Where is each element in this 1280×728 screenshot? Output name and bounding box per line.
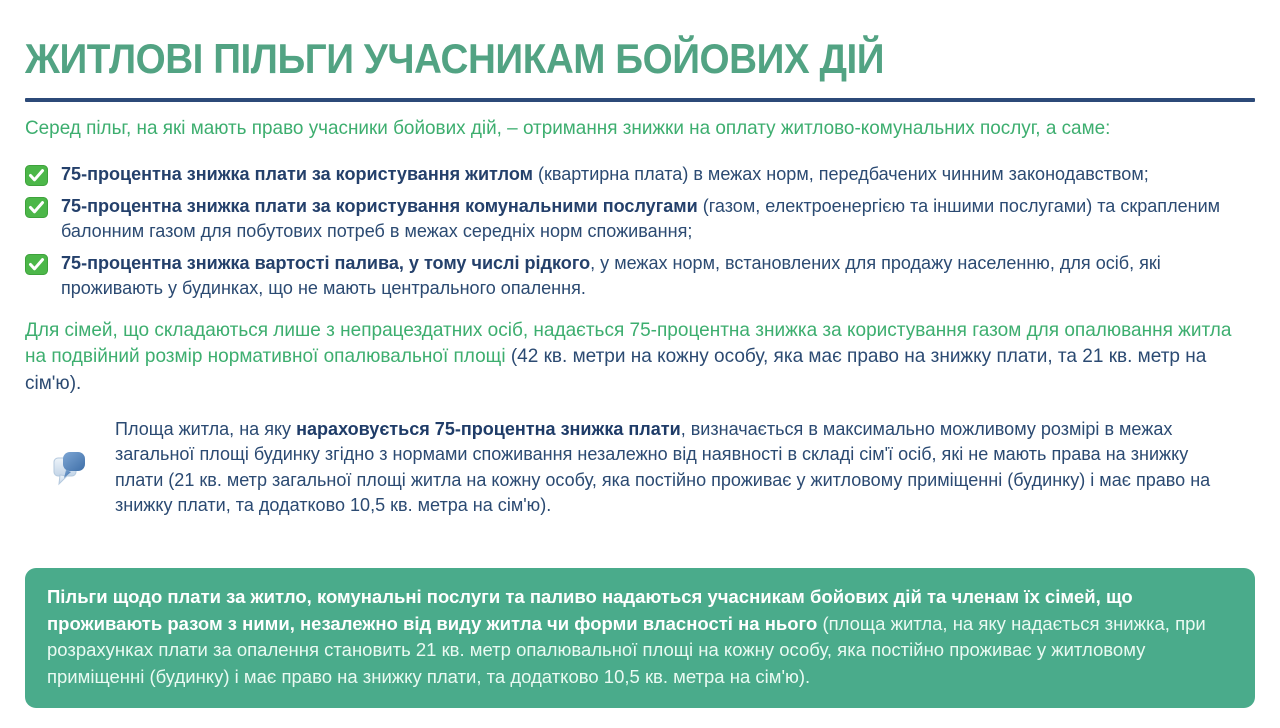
note-highlight: нараховується 75-процентна знижка плати [296, 418, 681, 439]
green-check-icon [25, 254, 48, 275]
note-lead: Площа житла, на яку [115, 418, 296, 439]
page-title: ЖИТЛОВІ ПІЛЬГИ УЧАСНИКАМ БОЙОВИХ ДІЙ [25, 0, 1157, 84]
list-item: 75-процентна знижка плати за користуванн… [25, 193, 1255, 243]
disabled-families-paragraph: Для сімей, що складаються лише з непраце… [25, 317, 1255, 397]
list-item-text: 75-процентна знижка плати за користуванн… [61, 161, 1225, 186]
note-block: Площа житла, на яку нараховується 75-про… [25, 416, 1255, 518]
list-item: 75-процентна знижка вартості палива, у т… [25, 250, 1255, 300]
list-item: 75-процентна знижка плати за користуванн… [25, 161, 1255, 186]
note-text: Площа житла, на яку нараховується 75-про… [115, 416, 1227, 518]
list-item-text: 75-процентна знижка вартості палива, у т… [61, 250, 1225, 300]
benefits-list: 75-процентна знижка плати за користуванн… [25, 161, 1255, 300]
green-check-icon [25, 165, 48, 186]
green-check-icon [25, 197, 48, 218]
title-divider [25, 98, 1255, 102]
list-item-text: 75-процентна знижка плати за користуванн… [61, 193, 1225, 243]
infographic-page: ЖИТЛОВІ ПІЛЬГИ УЧАСНИКАМ БОЙОВИХ ДІЙ Сер… [0, 0, 1280, 728]
list-item-highlight: 75-процентна знижка плати за користуванн… [61, 195, 698, 216]
callout-text: Пільги щодо плати за житло, комунальні п… [47, 586, 1206, 687]
speech-bubbles-icon [48, 446, 94, 492]
summary-callout: Пільги щодо плати за житло, комунальні п… [25, 568, 1255, 708]
intro-paragraph: Серед пільг, на які мають право учасники… [25, 115, 1255, 141]
list-item-rest: (квартирна плата) в межах норм, передбач… [533, 163, 1149, 184]
list-item-highlight: 75-процентна знижка плати за користуванн… [61, 163, 533, 184]
list-item-highlight: 75-процентна знижка вартості палива, у т… [61, 252, 590, 273]
